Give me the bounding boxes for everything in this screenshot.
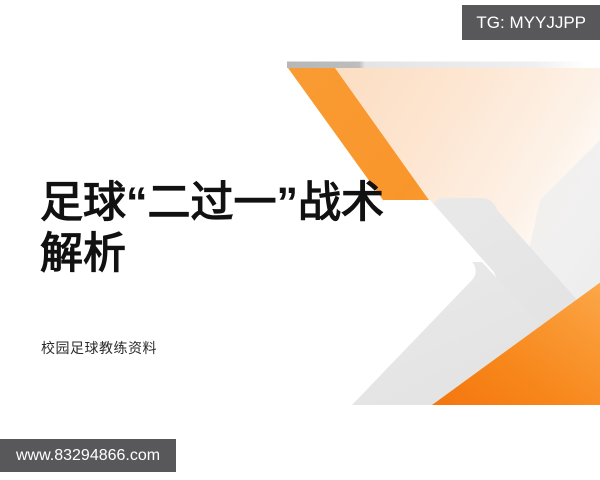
gray-chevron-lower-arm [352, 262, 600, 410]
slide-subtitle: 校园足球教练资料 [41, 338, 361, 358]
subtitle-block: 校园足球教练资料 [41, 338, 361, 358]
orange-bottom-triangle [432, 268, 600, 405]
gray-upper-right-panel [520, 120, 600, 330]
title-block: 足球“二过一”战术解析 [40, 178, 400, 280]
presentation-slide: 足球“二过一”战术解析 校园足球教练资料 TG: MYYJJPP www.832… [0, 0, 600, 480]
page-title: 足球“二过一”战术解析 [40, 178, 400, 280]
watermark-badge-top-right: TG: MYYJJPP [462, 5, 600, 40]
top-gray-band [287, 62, 587, 69]
watermark-badge-bottom-left: www.83294866.com [0, 439, 176, 472]
